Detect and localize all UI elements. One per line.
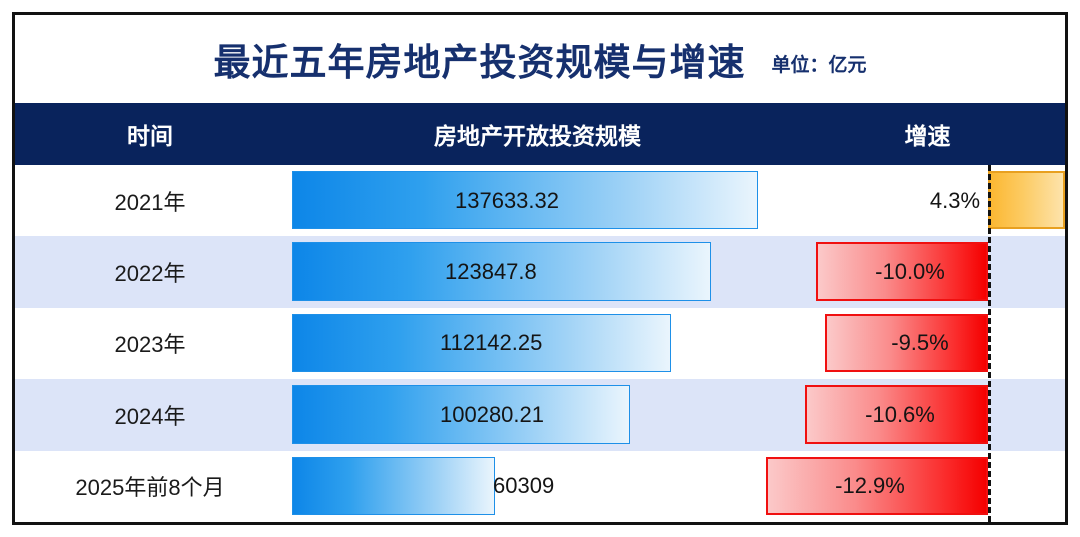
cell-growth-rate: -12.9% <box>790 451 1065 522</box>
growth-bar-positive <box>988 171 1065 229</box>
cell-investment-scale: 60309 <box>285 451 790 522</box>
cell-growth-rate: 4.3% <box>790 165 1065 236</box>
table-body: 2021年137633.324.3%2022年123847.8-10.0%202… <box>15 165 1065 522</box>
cell-time: 2024年 <box>15 379 285 450</box>
table-row: 2023年112142.25-9.5% <box>15 308 1065 379</box>
cell-time: 2025年前8个月 <box>15 451 285 522</box>
table-row: 2021年137633.324.3% <box>15 165 1065 236</box>
table-row: 2022年123847.8-10.0% <box>15 236 1065 307</box>
cell-growth-rate: -9.5% <box>790 308 1065 379</box>
cell-investment-scale: 112142.25 <box>285 308 790 379</box>
investment-scale-value: 123847.8 <box>445 236 537 307</box>
cell-growth-rate: -10.6% <box>790 379 1065 450</box>
growth-rate-value: -12.9% <box>790 451 950 522</box>
growth-rate-value: -10.6% <box>825 379 975 450</box>
page-title: 最近五年房地产投资规模与增速 <box>213 32 745 86</box>
investment-scale-value: 100280.21 <box>440 379 544 450</box>
investment-scale-value: 137633.32 <box>455 165 559 236</box>
cell-investment-scale: 137633.32 <box>285 165 790 236</box>
investment-scale-value: 60309 <box>493 451 554 522</box>
title-band: 最近五年房地产投资规模与增速 单位：亿元 <box>15 15 1065 103</box>
growth-rate-value: -10.0% <box>835 236 985 307</box>
cell-time: 2021年 <box>15 165 285 236</box>
column-header-growth-rate: 增速 <box>790 117 1065 151</box>
cell-investment-scale: 100280.21 <box>285 379 790 450</box>
column-header-time: 时间 <box>15 117 285 151</box>
table-row: 2024年100280.21-10.6% <box>15 379 1065 450</box>
investment-scale-bar <box>292 457 495 515</box>
chart-card: 最近五年房地产投资规模与增速 单位：亿元 时间 房地产开放投资规模 增速 202… <box>12 12 1068 525</box>
growth-rate-value: 4.3% <box>920 165 990 236</box>
cell-investment-scale: 123847.8 <box>285 236 790 307</box>
cell-time: 2022年 <box>15 236 285 307</box>
cell-time: 2023年 <box>15 308 285 379</box>
investment-scale-value: 112142.25 <box>440 308 542 379</box>
growth-rate-value: -9.5% <box>845 308 995 379</box>
column-header-investment-scale: 房地产开放投资规模 <box>285 117 790 151</box>
title-unit-note: 单位：亿元 <box>771 42 866 77</box>
table-header-row: 时间 房地产开放投资规模 增速 <box>15 103 1065 165</box>
zero-baseline-divider <box>988 165 991 522</box>
chart-canvas: 最近五年房地产投资规模与增速 单位：亿元 时间 房地产开放投资规模 增速 202… <box>0 0 1080 537</box>
table-row: 2025年前8个月60309-12.9% <box>15 451 1065 522</box>
cell-growth-rate: -10.0% <box>790 236 1065 307</box>
